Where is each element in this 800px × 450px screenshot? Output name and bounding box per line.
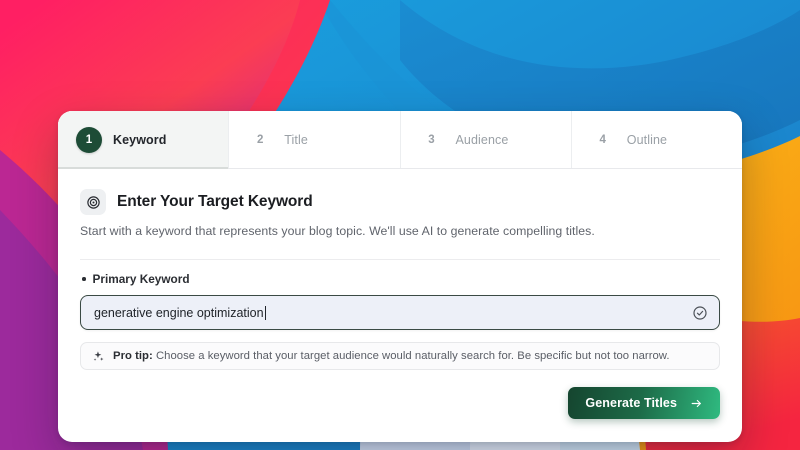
- field-label-text: Primary Keyword: [93, 272, 190, 286]
- check-circle-icon: [692, 305, 708, 321]
- step-number-badge: 3: [419, 127, 445, 153]
- arrow-right-icon: [690, 397, 703, 410]
- panel-header: Enter Your Target Keyword: [80, 189, 720, 215]
- pro-tip-body: Choose a keyword that your target audien…: [153, 350, 670, 362]
- step-tab-outline[interactable]: 4 Outline: [572, 111, 742, 168]
- primary-keyword-label: Primary Keyword: [80, 272, 720, 286]
- panel-body: Enter Your Target Keyword Start with a k…: [58, 169, 742, 442]
- panel-subtitle: Start with a keyword that represents you…: [80, 224, 720, 238]
- step-tab-title[interactable]: 2 Title: [229, 111, 400, 168]
- generate-titles-label: Generate Titles: [585, 396, 677, 410]
- generate-titles-button[interactable]: Generate Titles: [568, 387, 720, 419]
- wizard-card: 1 Keyword 2 Title 3 Audience 4 Outline: [58, 111, 742, 442]
- target-icon: [80, 189, 106, 215]
- step-label: Audience: [456, 133, 509, 147]
- bullet-icon: [82, 277, 86, 281]
- step-tab-keyword[interactable]: 1 Keyword: [58, 111, 229, 168]
- sparkles-icon: [92, 350, 105, 363]
- page-title: Enter Your Target Keyword: [117, 193, 313, 211]
- step-tabs: 1 Keyword 2 Title 3 Audience 4 Outline: [58, 111, 742, 169]
- pro-tip-text: Pro tip: Choose a keyword that your targ…: [113, 350, 670, 362]
- input-value: generative engine optimization: [94, 306, 264, 320]
- step-label: Keyword: [113, 133, 167, 147]
- primary-keyword-input[interactable]: generative engine optimization: [80, 295, 720, 330]
- input-value-row: generative engine optimization: [94, 306, 692, 320]
- step-label: Outline: [627, 133, 667, 147]
- step-number-badge: 4: [590, 127, 616, 153]
- pro-tip-prefix: Pro tip:: [113, 350, 153, 362]
- pro-tip-bar: Pro tip: Choose a keyword that your targ…: [80, 342, 720, 370]
- step-number-badge: 1: [76, 127, 102, 153]
- step-tab-audience[interactable]: 3 Audience: [401, 111, 572, 168]
- panel-footer: Generate Titles: [80, 370, 720, 442]
- text-caret: [265, 306, 266, 320]
- section-divider: [80, 259, 720, 260]
- step-label: Title: [284, 133, 308, 147]
- step-number-badge: 2: [247, 127, 273, 153]
